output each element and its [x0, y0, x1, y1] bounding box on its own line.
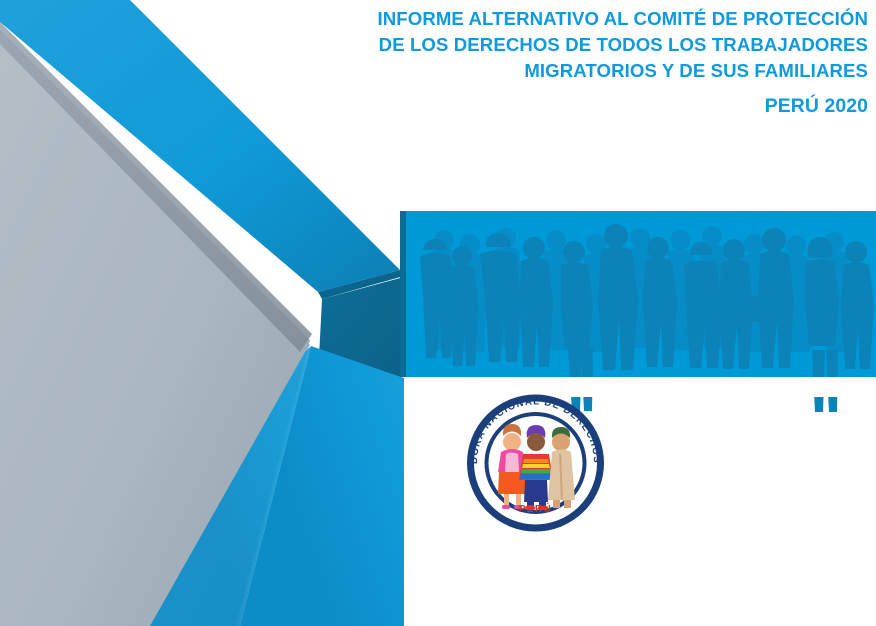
title-line-1: INFORME ALTERNATIVO AL COMITÉ DE PROTECC…	[330, 6, 868, 32]
title-country-year: PERÚ 2020	[330, 93, 868, 119]
partner-logos-strip: Grupo de Movilidad Humana Perú Ceas COMI…	[0, 524, 876, 626]
page-title: INFORME ALTERNATIVO AL COMITÉ DE PROTECC…	[330, 0, 868, 119]
coordinadora-nacional-de-derechos-humanos-logo: COORDINADORA NACIONAL DE DERECHOS HUMANO…	[463, 394, 608, 532]
emblem-country-label: PERÚ	[519, 502, 552, 515]
title-line-3: MIGRATORIOS Y DE SUS FAMILIARES	[330, 58, 868, 84]
title-line-2: DE LOS DERECHOS DE TODOS LOS TRABAJADORE…	[330, 32, 868, 58]
report-cover-page: INFORME ALTERNATIVO AL COMITÉ DE PROTECC…	[0, 0, 876, 626]
